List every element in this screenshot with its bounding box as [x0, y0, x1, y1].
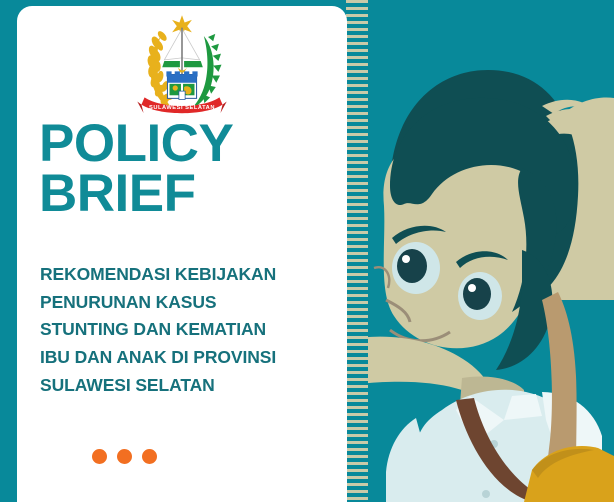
emblem-ribbon-text: SULAWESI SELATAN — [149, 105, 215, 111]
subtitle-line-4: IBU DAN ANAK DI PROVINSI — [40, 344, 340, 372]
subtitle: REKOMENDASI KEBIJAKAN PENURUNAN KASUS ST… — [40, 261, 340, 399]
boy-illustration — [346, 0, 614, 502]
decorative-dots — [92, 449, 157, 464]
policy-brief-poster: SULAWESI SELATAN POLICY BRIEF REKOMENDAS… — [0, 0, 614, 502]
stripe-pattern — [346, 0, 368, 502]
dot-2 — [117, 449, 132, 464]
subtitle-line-5: SULAWESI SELATAN — [40, 372, 340, 400]
white-card: SULAWESI SELATAN POLICY BRIEF REKOMENDAS… — [17, 6, 347, 502]
subtitle-line-1: REKOMENDASI KEBIJAKAN — [40, 261, 340, 289]
emblem-container: SULAWESI SELATAN — [17, 10, 347, 114]
subtitle-line-2: PENURUNAN KASUS — [40, 289, 340, 317]
page-title: POLICY BRIEF — [39, 119, 329, 220]
title-line-2: BRIEF — [39, 169, 329, 219]
boy-svg — [346, 0, 614, 502]
dot-3 — [142, 449, 157, 464]
illustration-panel — [346, 0, 614, 502]
subtitle-line-3: STUNTING DAN KEMATIAN — [40, 316, 340, 344]
coat-of-arms-icon: SULAWESI SELATAN — [130, 10, 234, 114]
dot-1 — [92, 449, 107, 464]
